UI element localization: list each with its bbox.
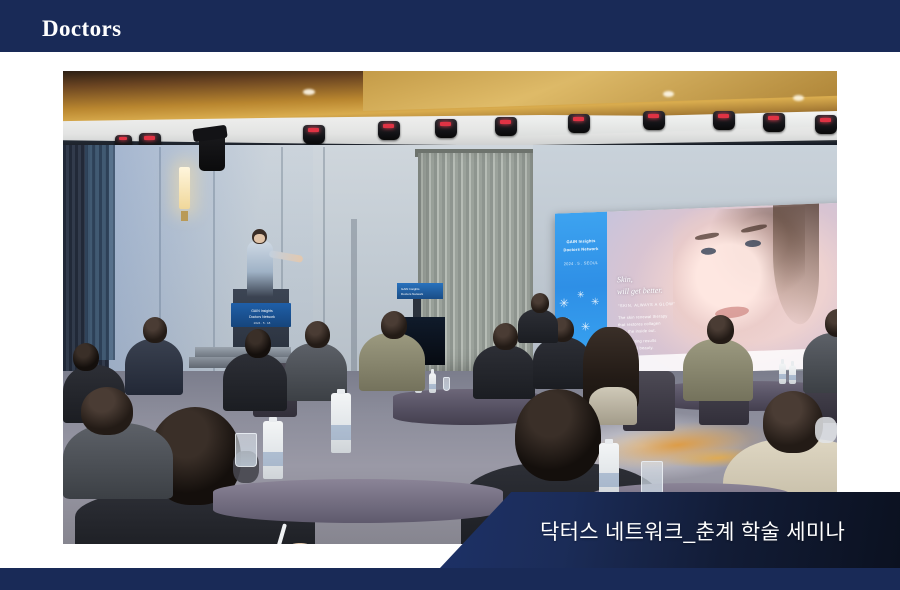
- secondary-monitor-text-2: Doctors Network: [401, 292, 441, 296]
- foreground-attendee-head: [515, 389, 601, 481]
- water-bottle: [779, 363, 786, 384]
- stage-light-icon: [495, 117, 517, 136]
- stage-light-icon: [568, 114, 590, 133]
- attendee: [359, 333, 425, 391]
- face-mask-icon: [815, 417, 837, 443]
- ceiling-downlight-icon: [663, 91, 674, 97]
- seminar-photo: GAIN Insights Doctors Network 2024 . 5 .…: [63, 71, 837, 544]
- stage-light-icon: [378, 121, 400, 140]
- attendee: [125, 339, 183, 395]
- attendee: [683, 339, 753, 401]
- attendee-head: [493, 323, 518, 350]
- speaker-presenter: [247, 241, 273, 297]
- attendee-head: [305, 321, 330, 348]
- attendee: [473, 345, 535, 399]
- snowflake-icon: ✳: [581, 322, 590, 333]
- water-glass: [443, 377, 450, 391]
- foreground-attendee-grey: [63, 423, 173, 499]
- brand-logo: Doctors: [42, 16, 121, 42]
- wall-sconce-base: [181, 211, 188, 221]
- podium-signage-date: 2024 . 5 . 18: [239, 321, 285, 325]
- attendee-head: [707, 315, 734, 344]
- snowflake-icon: ✳: [577, 291, 585, 300]
- page-footer: [0, 568, 900, 590]
- slide-headline-1: Skin,: [617, 275, 633, 286]
- water-bottle: [263, 421, 283, 479]
- water-bottle: [789, 365, 796, 384]
- slide-left-title-2: Doctors Network: [555, 246, 607, 254]
- stage-light-icon: [713, 111, 735, 130]
- stage-light-icon: [303, 125, 325, 144]
- attendee-head: [143, 317, 167, 343]
- stage-light-icon: [815, 115, 837, 134]
- slide-left-title-1: GAIN Insights: [555, 238, 607, 246]
- podium-signage-text: GAIN Insights: [239, 309, 285, 315]
- attendee-head: [73, 343, 99, 371]
- attendee: [223, 353, 287, 411]
- attendee-head: [381, 311, 407, 339]
- snowflake-icon: ✳: [559, 297, 569, 309]
- attendee: [518, 309, 558, 343]
- attendee-head: [245, 329, 271, 358]
- foreground-attendee-head: [763, 391, 823, 453]
- secondary-monitor-text: GAIN Insights: [401, 287, 441, 292]
- water-glass: [641, 461, 663, 495]
- slide-headline-2: will get better.: [617, 286, 663, 299]
- speaker-face: [254, 234, 265, 243]
- ceiling-downlight-icon: [303, 89, 315, 95]
- water-bottle: [429, 373, 436, 393]
- snowflake-icon: ✳: [591, 298, 599, 308]
- attendee-head: [531, 293, 549, 313]
- left-curtain-fold: [85, 145, 115, 360]
- foreground-attendee-head: [81, 387, 133, 435]
- stage-light-icon: [763, 113, 785, 132]
- water-bottle: [599, 443, 619, 499]
- slide-left-date: 2024 . 5 . SEOUL: [555, 260, 607, 268]
- water-bottle: [331, 393, 351, 453]
- door-frame: [351, 219, 357, 379]
- water-glass: [235, 433, 257, 467]
- wall-sconce-icon: [179, 167, 190, 209]
- page-header: Doctors: [0, 0, 900, 52]
- foreground-table: [213, 479, 503, 523]
- caption-text: 닥터스 네트워크_춘계 학술 세미나: [540, 516, 845, 546]
- caption-banner: 닥터스 네트워크_춘계 학술 세미나: [440, 492, 900, 568]
- ceiling-downlight-icon: [793, 95, 804, 101]
- stage-light-icon: [643, 111, 665, 130]
- stage-light-icon: [435, 119, 457, 138]
- podium-signage-text-2: Doctors Network: [239, 315, 285, 319]
